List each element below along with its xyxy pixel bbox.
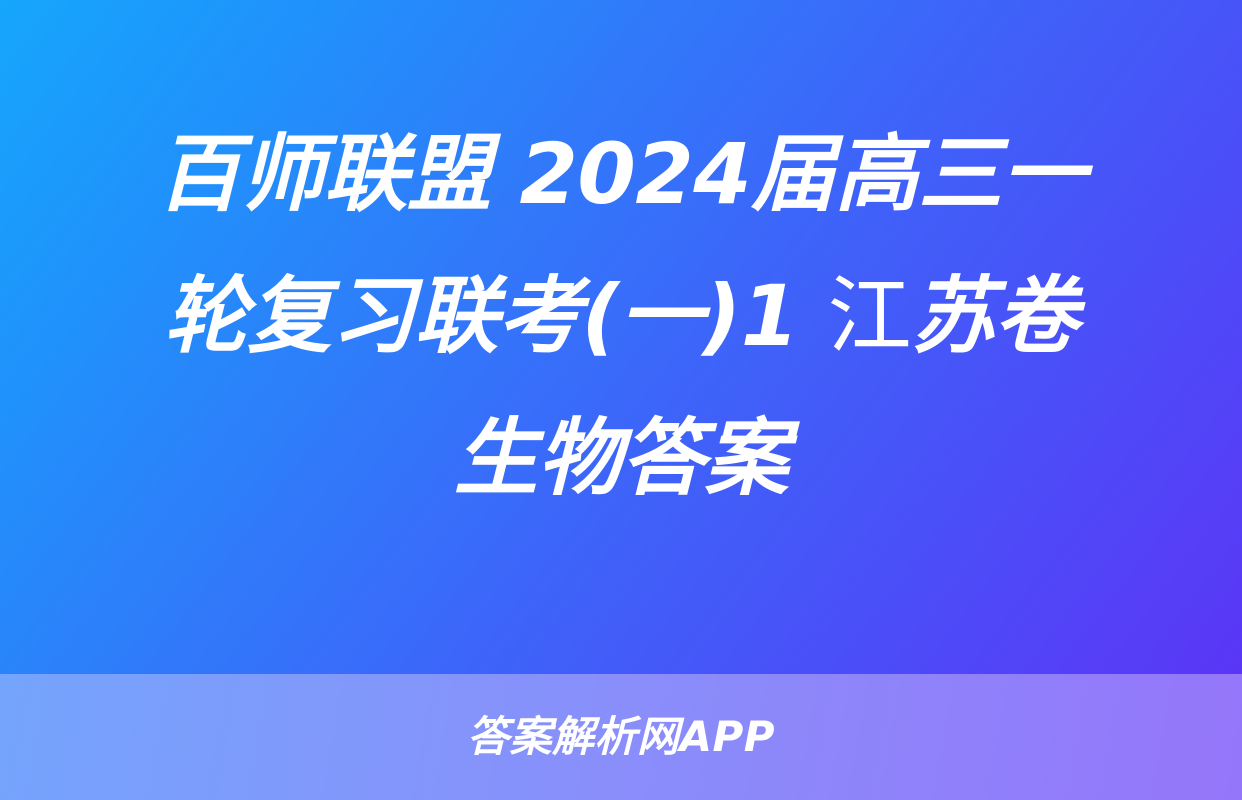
- cover-title-block: 百师联盟 2024届高三一 轮复习联考(一)1 江苏卷 生物答案: [0, 0, 1242, 674]
- app-promo-banner[interactable]: 答案解析网APP: [0, 674, 1242, 800]
- title-line-2-prefix: 轮复习联考(一)1: [164, 267, 827, 365]
- title-line-2-fallback-char: 江: [827, 267, 911, 365]
- title-line-2: 轮复习联考(一)1 江苏卷: [46, 245, 1196, 387]
- app-name-label: 答案解析网APP: [467, 714, 775, 760]
- title-line-1: 百师联盟 2024届高三一: [46, 103, 1196, 245]
- cover-card: 百师联盟 2024届高三一 轮复习联考(一)1 江苏卷 生物答案 答案解析网AP…: [0, 0, 1242, 800]
- title-line-3: 生物答案: [46, 387, 1196, 529]
- title-line-2-suffix: 苏卷: [911, 267, 1078, 365]
